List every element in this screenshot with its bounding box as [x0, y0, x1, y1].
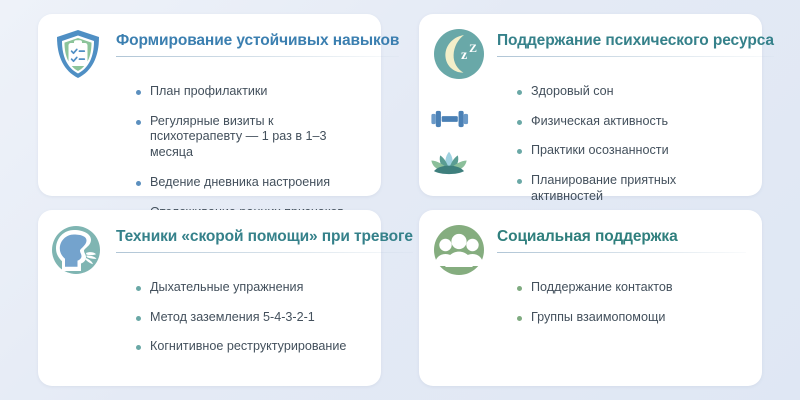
- title-block: Техники «скорой помощи» при тревоге: [116, 224, 413, 253]
- svg-text:Z: Z: [469, 41, 477, 55]
- people-group-icon: [431, 222, 487, 278]
- moon-sleep-icon: z Z: [431, 26, 487, 82]
- card-header: Формирование устойчивых навыков: [54, 28, 365, 74]
- list-item: План профилактики: [136, 84, 365, 100]
- card-header: Социальная поддержка: [435, 224, 746, 270]
- dumbbell-icon: [427, 102, 471, 136]
- title-divider: [116, 252, 413, 253]
- title-block: Формирование устойчивых навыков: [116, 28, 399, 57]
- list-item: Планирование приятных активностей: [517, 173, 746, 204]
- list-item: Практики осознанности: [517, 143, 746, 159]
- card-header: z Z Поддержание психического ресурса: [435, 28, 746, 74]
- title-divider: [116, 56, 399, 57]
- card-title: Техники «скорой помощи» при тревоге: [116, 228, 413, 246]
- title-divider: [497, 252, 746, 253]
- lotus-icon: [427, 142, 471, 182]
- list-item: Ведение дневника настроения: [136, 175, 365, 191]
- card-header: Техники «скорой помощи» при тревоге: [54, 224, 365, 270]
- breathing-head-icon: [50, 222, 106, 278]
- card-title: Социальная поддержка: [497, 228, 746, 246]
- cards-grid: Формирование устойчивых навыков План про…: [38, 14, 762, 386]
- list-item: Поддержание контактов: [517, 280, 746, 296]
- list-item: Физическая активность: [517, 114, 746, 130]
- card-title: Формирование устойчивых навыков: [116, 32, 399, 50]
- list-item: Регулярные визиты к психотерапевту — 1 р…: [136, 114, 365, 161]
- list-item: Дыхательные упражнения: [136, 280, 365, 296]
- list-item: Метод заземления 5-4-3-2-1: [136, 310, 365, 326]
- shield-checklist-icon: [50, 26, 106, 82]
- card-emergency-techniques: Техники «скорой помощи» при тревоге Дыха…: [38, 210, 381, 386]
- card-skills: Формирование устойчивых навыков План про…: [38, 14, 381, 196]
- title-divider: [497, 56, 774, 57]
- card-social-support: Социальная поддержка Поддержание контакт…: [419, 210, 762, 386]
- list-item: Здоровый сон: [517, 84, 746, 100]
- title-block: Поддержание психического ресурса: [497, 28, 774, 57]
- bullet-list: Здоровый сон Физическая активность Практ…: [517, 84, 746, 205]
- card-mental-resource: z Z Поддержание психического ресурса: [419, 14, 762, 196]
- bullet-list: Поддержание контактов Группы взаимопомощ…: [517, 280, 746, 325]
- card-title: Поддержание психического ресурса: [497, 32, 774, 50]
- svg-text:z: z: [461, 48, 467, 63]
- infographic-board: Формирование устойчивых навыков План про…: [0, 0, 800, 400]
- list-item: Группы взаимопомощи: [517, 310, 746, 326]
- list-item: Когнитивное реструктурирование: [136, 339, 365, 355]
- bullet-list: Дыхательные упражнения Метод заземления …: [136, 280, 365, 355]
- title-block: Социальная поддержка: [497, 224, 746, 253]
